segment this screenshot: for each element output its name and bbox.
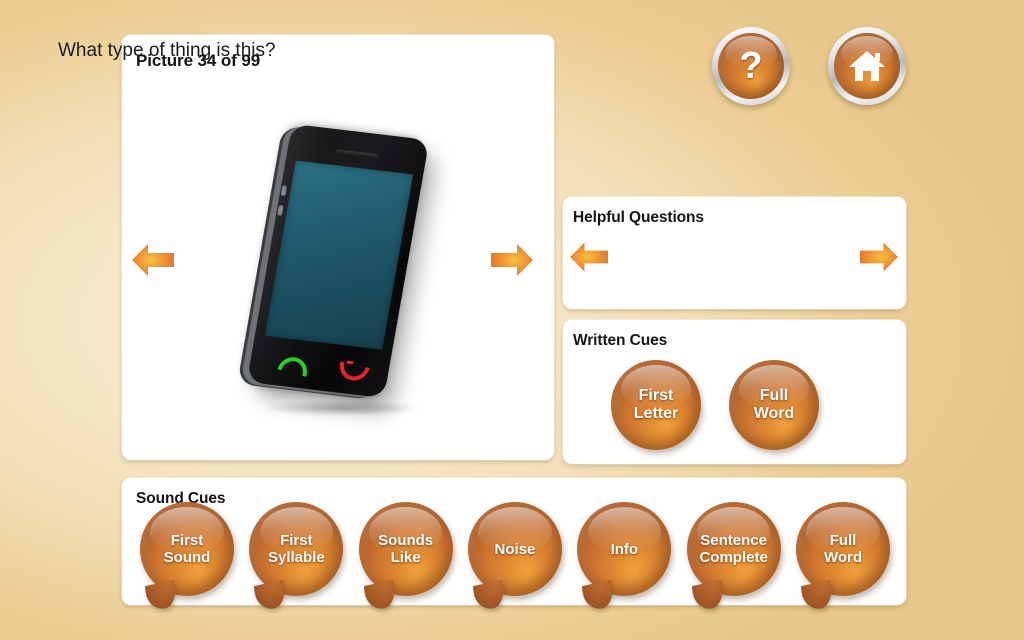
helpful-questions-panel: Helpful Questions: [563, 197, 906, 309]
question-prev-arrow[interactable]: [568, 238, 610, 276]
smartphone-illustration: [223, 122, 453, 422]
sound-cue-first-syllable[interactable]: First Syllable: [249, 502, 343, 596]
sound-cue-first-sound[interactable]: First Sound: [140, 502, 234, 596]
sound-cue-info[interactable]: Info: [577, 502, 671, 596]
written-cue-full-word[interactable]: Full Word: [729, 360, 819, 450]
phone-drop-shadow: [263, 400, 423, 416]
question-mark-icon: ?: [739, 47, 762, 85]
bubble-tail: [145, 580, 177, 612]
sound-cue-noise[interactable]: Noise: [468, 502, 562, 596]
home-icon: [848, 49, 886, 83]
bubble-tail: [473, 580, 505, 612]
picture-next-arrow[interactable]: [489, 239, 535, 281]
written-cue-first-letter[interactable]: First Letter: [611, 360, 701, 450]
bubble-tail: [364, 580, 396, 612]
end-call-handset-icon: [335, 358, 364, 377]
phone-body: [247, 123, 430, 397]
sound-cue-sounds-like[interactable]: Sounds Like: [359, 502, 453, 596]
picture-prev-arrow[interactable]: [130, 239, 176, 281]
help-button[interactable]: ?: [712, 27, 790, 105]
bubble-tail: [254, 580, 286, 612]
written-cues-title: Written Cues: [573, 332, 667, 350]
helpful-questions-title: Helpful Questions: [573, 209, 704, 227]
sound-cue-sentence-complete[interactable]: Sentence Complete: [687, 502, 781, 596]
written-cues-list: First Letter Full Word: [611, 353, 861, 457]
call-handset-icon: [276, 351, 305, 370]
helpful-question-text: What type of thing is this?: [58, 38, 288, 63]
bubble-tail: [582, 580, 614, 612]
home-button[interactable]: [828, 27, 906, 105]
question-next-arrow[interactable]: [858, 238, 900, 276]
written-cues-panel: Written Cues First Letter Full Word: [563, 320, 906, 464]
bubble-tail: [801, 580, 833, 612]
help-button-face: ?: [718, 33, 784, 99]
sound-cues-list: First Sound First Syllable Sounds Like N…: [140, 502, 890, 602]
sound-cues-panel: Sound Cues First Sound First Syllable So…: [122, 478, 906, 605]
sound-cue-full-word[interactable]: Full Word: [796, 502, 890, 596]
app-root: ? Picture 34 of 99: [0, 0, 1024, 640]
bubble-tail: [692, 580, 724, 612]
home-button-face: [834, 33, 900, 99]
